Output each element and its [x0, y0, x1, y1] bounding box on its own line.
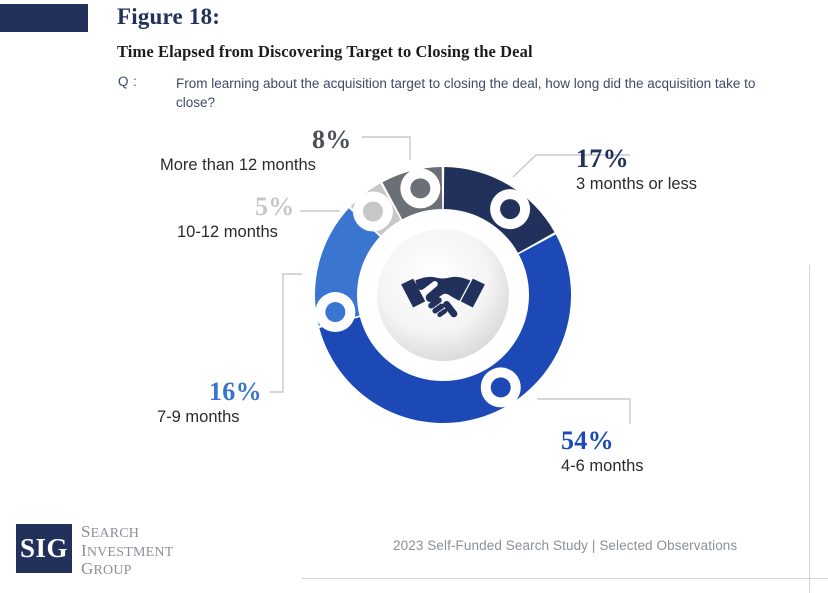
donut-slice [444, 167, 555, 253]
question-label: Q : [118, 74, 176, 89]
donut-slice [315, 208, 380, 325]
figure-subtitle: Time Elapsed from Discovering Target to … [117, 42, 533, 62]
page-title: Figure 18: [117, 4, 220, 30]
slice-marker-3 [315, 292, 355, 332]
callout-10-12-months: 5% 10-12 months [177, 193, 295, 243]
donut-slices [315, 167, 571, 423]
sig-wordmark-line-1: Search [81, 524, 173, 543]
donut-hub [377, 229, 509, 361]
leader-line-46months [537, 399, 630, 424]
donut-slice [319, 234, 571, 423]
right-divider [809, 265, 810, 593]
sig-logo: SIG Search Investment Group [16, 524, 173, 580]
slice-markers [315, 168, 530, 407]
callout-percent: 5% [177, 193, 295, 221]
callout-3-months-or-less: 17% 3 months or less [576, 145, 697, 195]
callout-7-9-months: 16% 7-9 months [157, 378, 262, 428]
header-accent-bar [0, 4, 88, 32]
question-row: Q : From learning about the acquisition … [118, 74, 798, 112]
callout-label: 7-9 months [157, 406, 262, 428]
callout-more-than-12-months: 8% More than 12 months [160, 126, 352, 176]
donut-slice [351, 183, 401, 235]
callout-percent: 54% [561, 427, 644, 455]
callout-label: More than 12 months [160, 154, 352, 176]
handshake-icon [401, 277, 485, 317]
callout-percent: 16% [157, 378, 262, 406]
sig-logo-mark: SIG [16, 524, 72, 573]
slice-marker-5 [400, 168, 440, 208]
slice-marker-1 [490, 189, 530, 229]
donut-slice [382, 167, 442, 219]
question-text: From learning about the acquisition targ… [176, 74, 776, 112]
callout-percent: 17% [576, 145, 697, 173]
footer-caption: 2023 Self-Funded Search Study | Selected… [393, 538, 737, 553]
sig-wordmark-line-2: Investment [81, 543, 173, 562]
sig-wordmark-line-3: Group [81, 561, 173, 580]
callout-label: 4-6 months [561, 455, 644, 477]
donut-hub-ring [359, 211, 527, 379]
slice-marker-2 [481, 367, 521, 407]
footer-divider [302, 578, 828, 579]
leader-line-79months [270, 274, 302, 392]
slice-marker-4 [353, 192, 393, 232]
leader-line-12months [362, 137, 410, 160]
callout-label: 10-12 months [177, 221, 295, 243]
callout-4-6-months: 54% 4-6 months [561, 427, 644, 477]
callout-percent: 8% [160, 126, 352, 154]
sig-wordmark: Search Investment Group [81, 524, 173, 580]
callout-label: 3 months or less [576, 173, 697, 195]
